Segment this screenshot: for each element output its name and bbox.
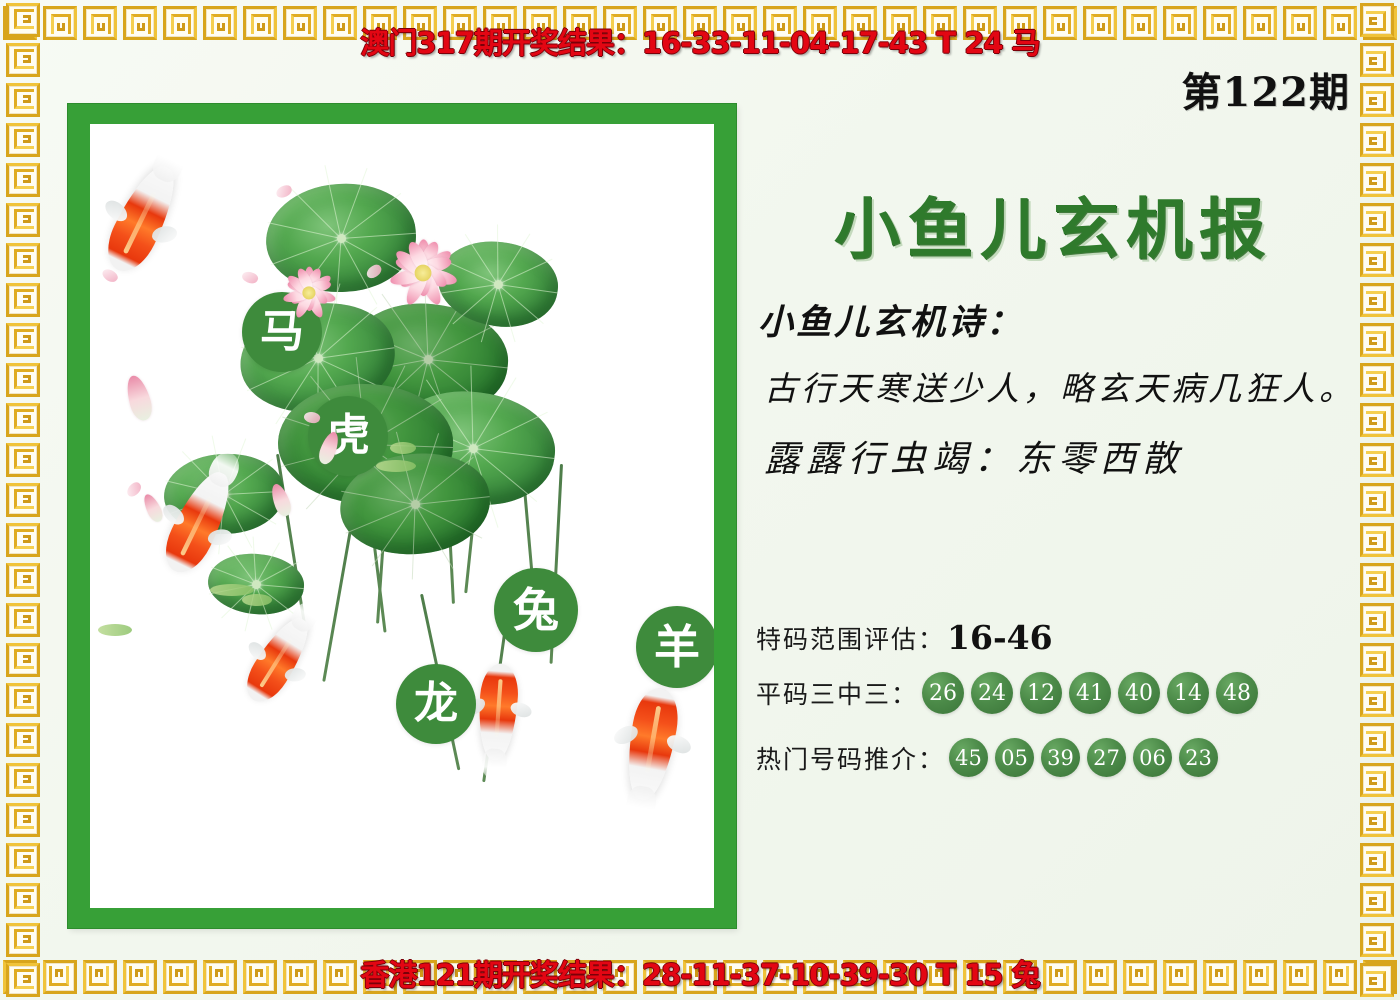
- border-motif-tile: [1357, 120, 1397, 160]
- border-motif-tile: [1357, 400, 1397, 440]
- border-motif-tile: [3, 280, 43, 320]
- border-motif-tile: [3, 800, 43, 840]
- koi-tail: [624, 784, 659, 825]
- pingma-ball-list: 26241241401448: [922, 672, 1258, 714]
- border-motif-tile: [3, 240, 43, 280]
- border-motif-tile: [3, 200, 43, 240]
- koi-fish: [156, 438, 255, 581]
- poem-line-1: 古行天寒送少人，略玄天病几狂人。: [764, 362, 1356, 410]
- macau-result-banner: 澳门317期开奖结果：16-33-11-04-17-43 T 24 马: [0, 20, 1400, 62]
- border-motif-tile: [1357, 200, 1397, 240]
- zodiac-badge-yang[interactable]: 羊: [636, 606, 714, 688]
- koi-fish: [238, 588, 333, 709]
- koi-tail: [481, 748, 508, 781]
- border-motif-tile: [3, 160, 43, 200]
- pingma-row: 平码三中三： 26241241401448: [756, 672, 1358, 714]
- pingma-ball[interactable]: 24: [971, 672, 1013, 714]
- zodiac-badge-tu[interactable]: 兔: [494, 568, 578, 652]
- border-motif-tile: [1357, 800, 1397, 840]
- border-motif-tile: [1357, 640, 1397, 680]
- border-motif-tile: [3, 360, 43, 400]
- lotus-koi-illustration: 马 虎 兔 羊 龙: [90, 124, 714, 908]
- lottery-poster: 澳门317期开奖结果：16-33-11-04-17-43 T 24 马 马 虎 …: [0, 0, 1400, 1000]
- hot-numbers-ball-list: 450539270623: [949, 738, 1218, 777]
- pingma-ball[interactable]: 14: [1167, 672, 1209, 714]
- border-motif-tile: [3, 840, 43, 880]
- page-title: 小鱼儿玄机报: [748, 176, 1358, 272]
- border-motif-tile: [1357, 80, 1397, 120]
- koi-fish: [615, 684, 683, 833]
- hot-numbers-row: 热门号码推介： 450539270623: [756, 738, 1358, 777]
- lily-pad: [390, 442, 416, 454]
- hot-number-ball[interactable]: 23: [1179, 738, 1218, 777]
- border-motif-tile: [3, 80, 43, 120]
- koi-fish: [474, 662, 520, 787]
- border-left: [0, 0, 46, 1000]
- pingma-label: 平码三中三：: [756, 675, 918, 711]
- hot-number-ball[interactable]: 27: [1087, 738, 1126, 777]
- border-motif-tile: [1357, 840, 1397, 880]
- hot-number-ball[interactable]: 05: [995, 738, 1034, 777]
- lotus-flower: [422, 272, 423, 273]
- border-motif-tile: [1357, 680, 1397, 720]
- lily-pad: [242, 594, 272, 606]
- pingma-ball[interactable]: 48: [1216, 672, 1258, 714]
- border-motif-tile: [3, 400, 43, 440]
- content-column: 第122期 小鱼儿玄机报 小鱼儿玄机诗： 古行天寒送少人，略玄天病几狂人。 露露…: [748, 56, 1358, 936]
- hot-number-ball[interactable]: 06: [1133, 738, 1172, 777]
- border-motif-tile: [1357, 320, 1397, 360]
- lily-pad: [98, 624, 132, 636]
- border-motif-tile: [3, 320, 43, 360]
- border-motif-tile: [1357, 240, 1397, 280]
- poem-label: 小鱼儿玄机诗：: [758, 294, 1024, 345]
- border-motif-tile: [3, 680, 43, 720]
- border-motif-tile: [3, 480, 43, 520]
- border-motif-tile: [3, 440, 43, 480]
- hongkong-result-banner: 香港121期开奖结果：28-11-37-10-39-30 T 15 兔: [0, 952, 1400, 994]
- border-motif-tile: [3, 720, 43, 760]
- koi-fin-left: [208, 529, 232, 545]
- border-motif-tile: [3, 880, 43, 920]
- hot-number-ball[interactable]: 45: [949, 738, 988, 777]
- special-range-value: 16-46: [947, 618, 1053, 657]
- border-motif-tile: [1357, 880, 1397, 920]
- border-motif-tile: [1357, 720, 1397, 760]
- koi-fin-left: [284, 667, 306, 683]
- border-motif-tile: [3, 640, 43, 680]
- picture-frame: 马 虎 兔 羊 龙: [68, 104, 736, 928]
- border-motif-tile: [3, 760, 43, 800]
- border-right: [1354, 0, 1400, 1000]
- pingma-ball[interactable]: 26: [922, 672, 964, 714]
- lotus-flower: [308, 292, 309, 293]
- lily-pad: [376, 460, 416, 472]
- border-motif-tile: [1357, 560, 1397, 600]
- border-motif-tile: [1357, 760, 1397, 800]
- hot-number-ball[interactable]: 39: [1041, 738, 1080, 777]
- hot-numbers-label: 热门号码推介：: [756, 740, 945, 776]
- border-motif-tile: [3, 560, 43, 600]
- poem-line-2: 露露行虫竭：东零西散: [764, 430, 1184, 482]
- koi-fish: [98, 131, 201, 280]
- border-motif-tile: [1357, 520, 1397, 560]
- zodiac-badge-long[interactable]: 龙: [396, 664, 476, 744]
- border-motif-tile: [3, 520, 43, 560]
- pingma-ball[interactable]: 12: [1020, 672, 1062, 714]
- special-range-row: 特码范围评估： 16-46: [756, 618, 1358, 657]
- pingma-ball[interactable]: 41: [1069, 672, 1111, 714]
- border-motif-tile: [1357, 600, 1397, 640]
- border-motif-tile: [1357, 360, 1397, 400]
- special-range-label: 特码范围评估：: [756, 620, 945, 656]
- issue-number: 第122期: [1182, 60, 1351, 118]
- border-motif-tile: [1357, 480, 1397, 520]
- border-motif-tile: [3, 600, 43, 640]
- border-motif-tile: [3, 120, 43, 160]
- border-motif-tile: [1357, 440, 1397, 480]
- border-motif-tile: [1357, 160, 1397, 200]
- border-motif-tile: [1357, 280, 1397, 320]
- koi-fin-left: [152, 226, 177, 242]
- pingma-ball[interactable]: 40: [1118, 672, 1160, 714]
